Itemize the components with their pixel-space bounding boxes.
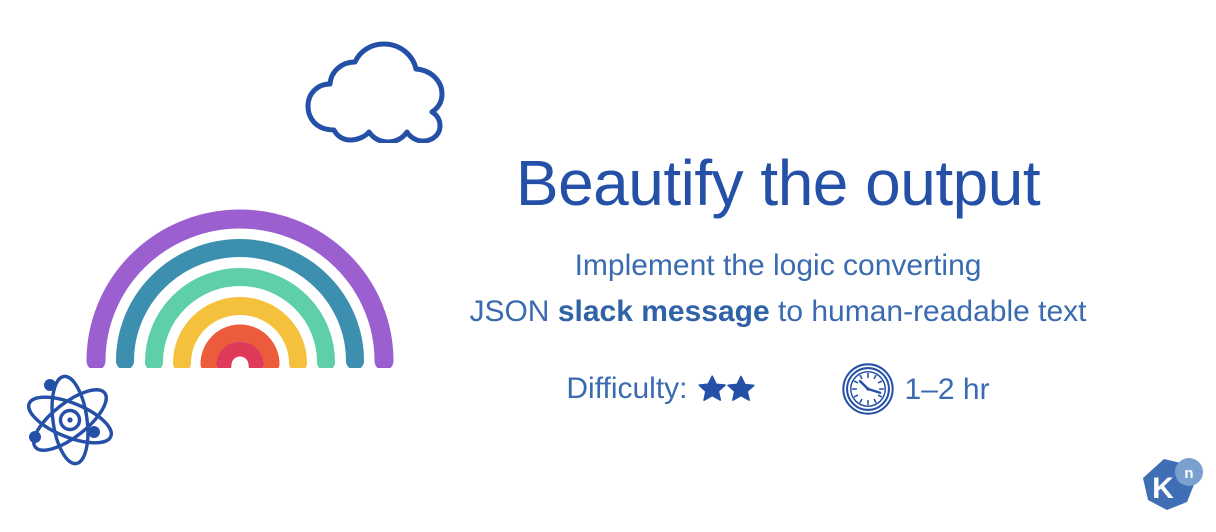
clock-icon (841, 362, 895, 416)
difficulty-group: Difficulty: (566, 372, 754, 406)
logo-badge-letter: n (1184, 465, 1193, 482)
subtitle-line-2-emphasis: slack message (558, 295, 770, 328)
subtitle-line-1: Implement the logic converting (408, 243, 1148, 290)
rainbow-illustration (78, 183, 403, 368)
subtitle-line-2-prefix: JSON (469, 295, 557, 328)
meta-row: Difficulty: (408, 362, 1148, 416)
difficulty-stars (698, 375, 755, 402)
difficulty-label: Difficulty: (566, 372, 687, 406)
page-title: Beautify the output (408, 150, 1148, 217)
star-icon (698, 375, 726, 402)
knn-logo[interactable]: K n (1139, 456, 1205, 518)
atom-icon (18, 370, 123, 470)
text-block: Beautify the output Implement the logic … (408, 150, 1148, 416)
subtitle-line-2-suffix: to human-readable text (770, 295, 1087, 328)
duration-group: 1–2 hr (841, 362, 990, 416)
rainbow-arc-crimson (224, 349, 256, 365)
cloud-icon (300, 38, 450, 143)
logo-primary-letter: K (1152, 472, 1174, 505)
duration-label: 1–2 hr (905, 373, 990, 407)
star-icon (727, 375, 755, 402)
subtitle: Implement the logic converting JSON slac… (408, 243, 1148, 336)
slide-canvas: Beautify the output Implement the logic … (0, 0, 1216, 532)
subtitle-line-2: JSON slack message to human-readable tex… (408, 289, 1148, 336)
